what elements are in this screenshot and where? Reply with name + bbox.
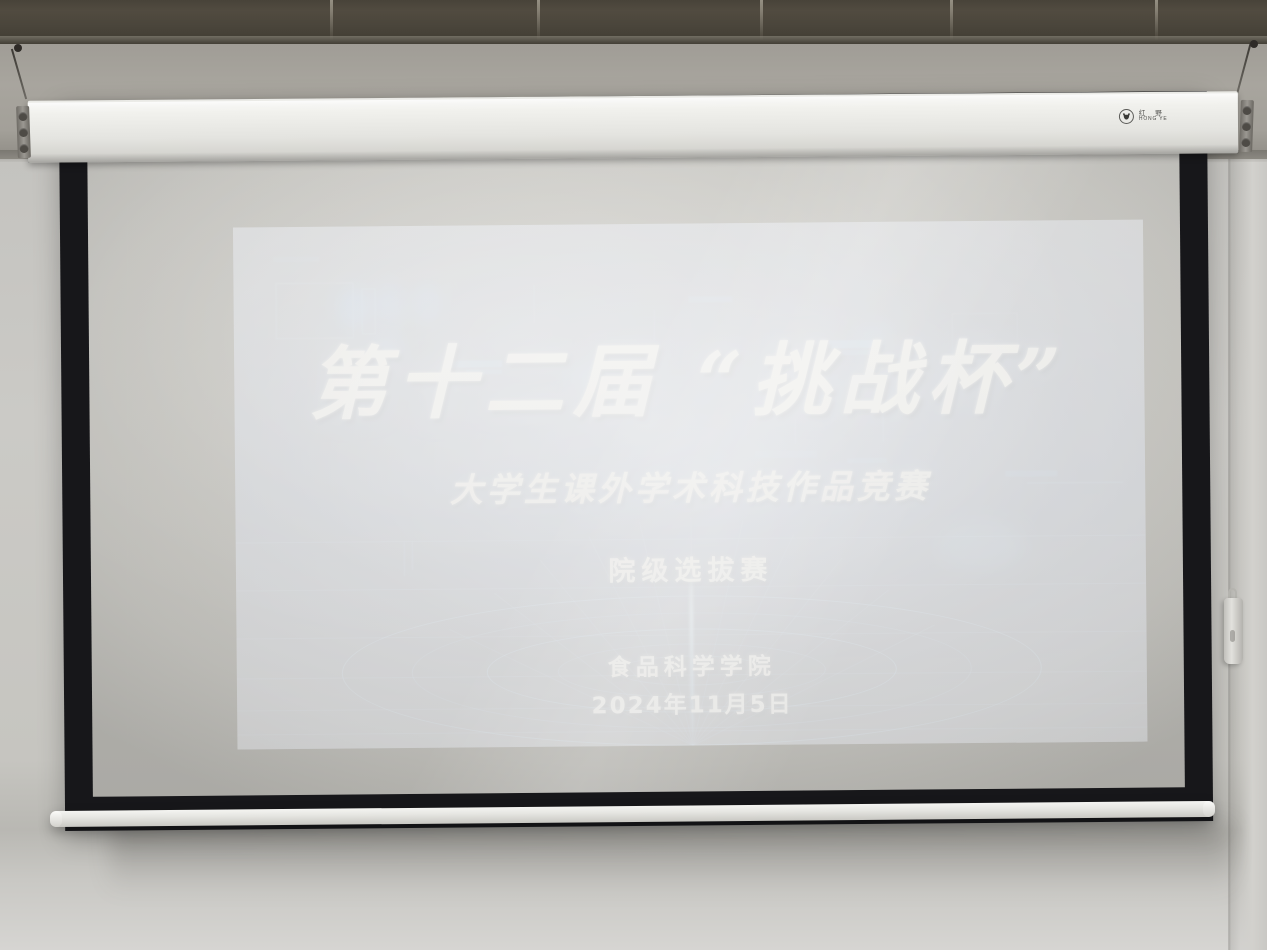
ceiling-tile-seam: [537, 0, 540, 40]
hanger-cap-left: [14, 44, 22, 52]
wall-hook[interactable]: [1224, 598, 1243, 664]
screen-housing[interactable]: 红 野 HONG YE: [28, 91, 1238, 163]
projected-slide: 第十二届 “挑战杯” 大学生课外学术科技作品竞赛 院级选拔赛 食品科学学院 20…: [233, 220, 1148, 750]
slide-organizer: 食品科学学院: [237, 644, 1147, 686]
ceiling-tile-seam: [950, 0, 953, 40]
brand-name-en: HONG YE: [1139, 117, 1168, 122]
slide-text-block: 第十二届 “挑战杯” 大学生课外学术科技作品竞赛 院级选拔赛 食品科学学院 20…: [233, 220, 1148, 750]
classroom-scene: 第十二届 “挑战杯” 大学生课外学术科技作品竞赛 院级选拔赛 食品科学学院 20…: [0, 0, 1267, 950]
brand-plate: 红 野 HONG YE: [1119, 109, 1168, 124]
slide-date: 2024年11月5日: [237, 682, 1147, 724]
ceiling-tile-seam: [1155, 0, 1158, 40]
ceiling-tile-seam: [760, 0, 763, 40]
ceiling-tile-seam: [330, 0, 333, 40]
ceiling-bracket-left: [16, 106, 31, 158]
hanger-cap-right: [1250, 40, 1258, 48]
slide-subtitle: 大学生课外学术科技作品竞赛: [235, 458, 1145, 514]
weight-bar-cap-left: [50, 811, 62, 827]
screen-surface[interactable]: 第十二届 “挑战杯” 大学生课外学术科技作品竞赛 院级选拔赛 食品科学学院 20…: [87, 119, 1185, 797]
ceiling-bracket-right: [1239, 100, 1254, 152]
slide-title: 第十二届 “挑战杯”: [234, 338, 1145, 425]
bull-head-icon: [1119, 109, 1134, 124]
wall-hook-slot: [1230, 630, 1235, 642]
weight-bar-cap-right: [1203, 801, 1215, 817]
screen-cast-shadow: [110, 824, 1230, 894]
projection-screen[interactable]: 第十二届 “挑战杯” 大学生课外学术科技作品竞赛 院级选拔赛 食品科学学院 20…: [59, 91, 1213, 831]
slide-stage: 院级选拔赛: [236, 545, 1146, 592]
